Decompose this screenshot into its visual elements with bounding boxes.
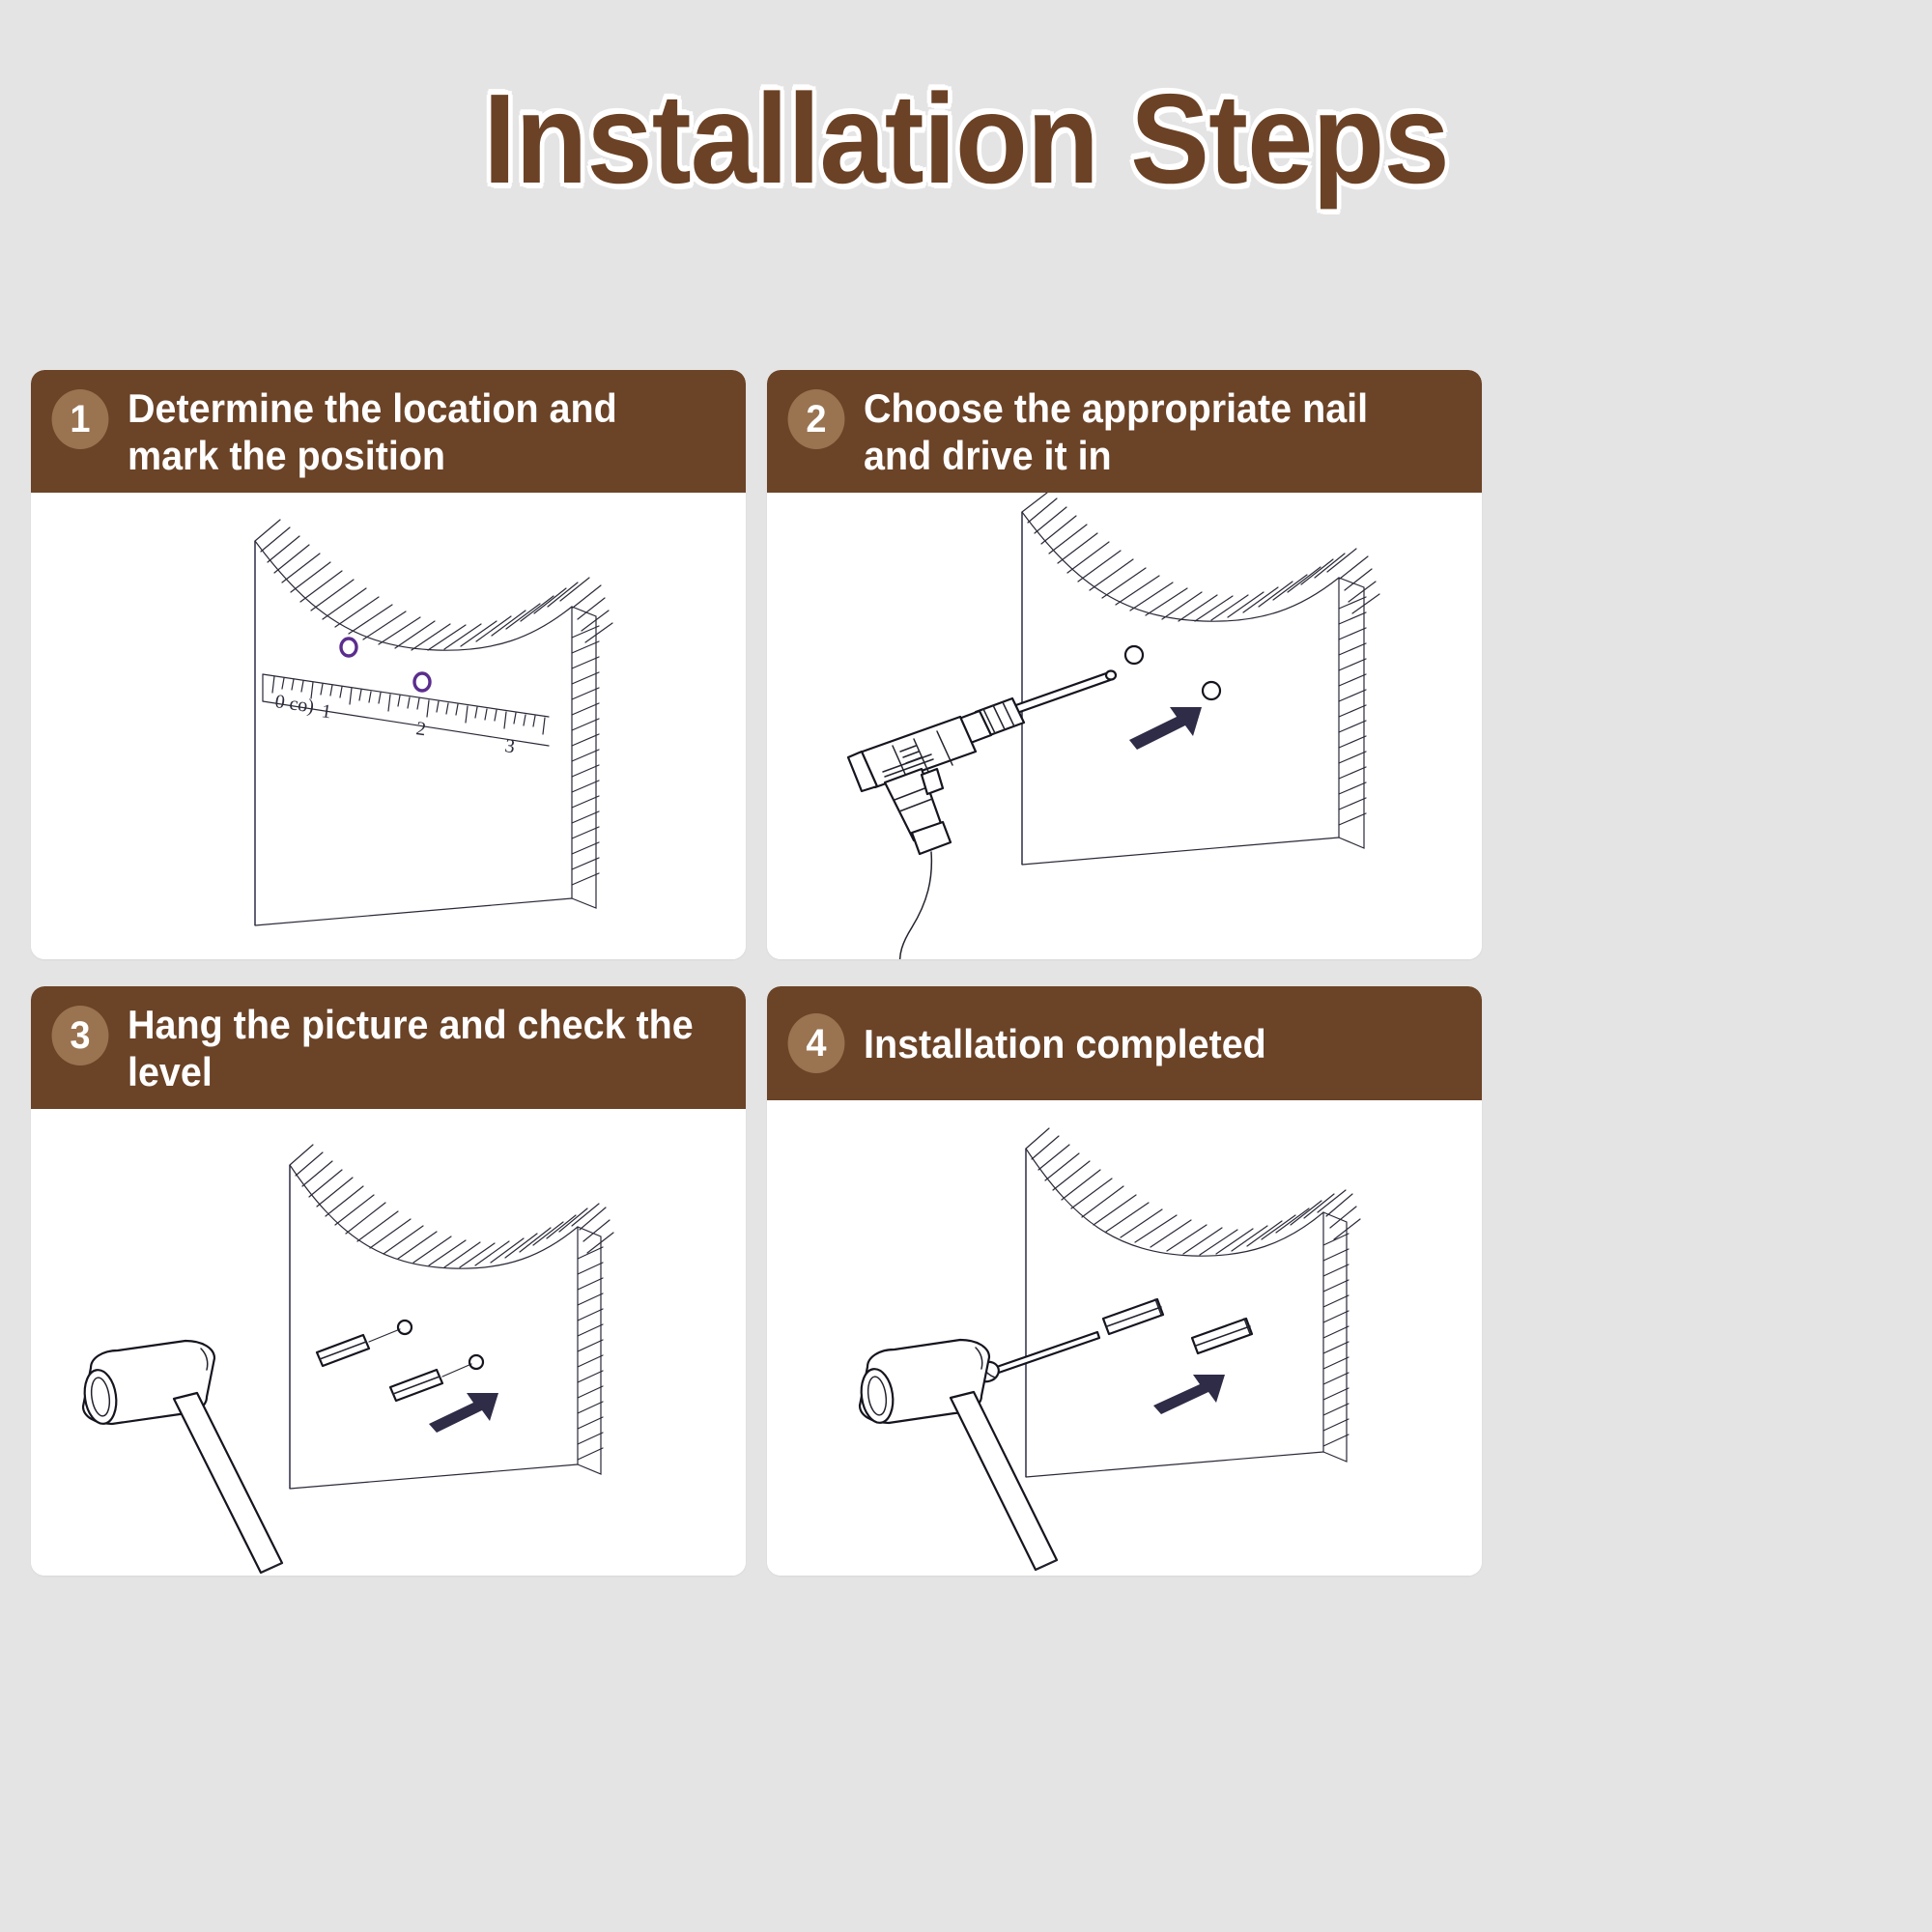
rubber-mallet	[81, 1341, 282, 1573]
steps-grid: 1 Determine the location and mark the po…	[31, 370, 1901, 1901]
step-title-1: Determine the location and mark the posi…	[128, 384, 695, 479]
wall-top-hatching	[290, 1145, 613, 1267]
step-illustration-3	[31, 1109, 746, 1576]
wall-shape	[1026, 1128, 1360, 1477]
step-header-1: 1 Determine the location and mark the po…	[31, 370, 746, 493]
step-illustration-4	[767, 1100, 1482, 1576]
power-cord	[900, 852, 932, 959]
driven-nail	[973, 1332, 1099, 1384]
step-title-3: Hang the picture and check the level	[128, 1000, 695, 1095]
nail-driven-diagram	[767, 1100, 1482, 1576]
rubber-mallet	[858, 1340, 1057, 1570]
step-illustration-2	[767, 493, 1482, 959]
step-title-2: Choose the appropriate nail and drive it…	[864, 384, 1431, 479]
step-panel-3: 3 Hang the picture and check the level	[31, 986, 746, 1576]
step-panel-2: 2 Choose the appropriate nail and drive …	[767, 370, 1482, 959]
step-number-badge-1: 1	[52, 389, 109, 449]
wall-shape	[290, 1145, 613, 1489]
wall-shape	[1022, 493, 1379, 865]
step-illustration-1: 0 co) 1 2 3	[31, 493, 746, 959]
step-number-badge-2: 2	[788, 389, 845, 449]
drill-wall-diagram	[767, 493, 1482, 959]
ruler-label-0: 0 co)	[273, 692, 315, 718]
wall-anchor-1	[317, 1321, 412, 1366]
step-header-3: 3 Hang the picture and check the level	[31, 986, 746, 1109]
ruler-label-3: 3	[503, 736, 516, 758]
nail-shaft	[991, 1332, 1099, 1375]
mallet-anchor-diagram	[31, 1109, 746, 1576]
wall-side-hatching	[1323, 1234, 1349, 1446]
ruler-label-1: 1	[320, 701, 332, 724]
mallet-handle	[174, 1393, 282, 1573]
mallet-handle	[951, 1392, 1057, 1570]
wall-anchor-2	[1192, 1319, 1252, 1353]
ruler: 0 co) 1 2 3	[263, 674, 549, 757]
wall-ruler-diagram: 0 co) 1 2 3	[31, 493, 746, 959]
ruler-label-2: 2	[414, 719, 427, 741]
wall-top-hatching	[1022, 493, 1379, 621]
step-number-badge-4: 4	[788, 1013, 845, 1073]
drill-hole-1	[1125, 646, 1143, 664]
step-panel-1: 1 Determine the location and mark the po…	[31, 370, 746, 959]
direction-arrow	[1153, 1375, 1225, 1414]
wall-side-hatching	[572, 626, 599, 885]
wall-side-hatching	[1339, 597, 1366, 825]
step-number-badge-3: 3	[52, 1006, 109, 1065]
drill-bit	[1010, 672, 1113, 714]
drill-hole-2	[1203, 682, 1220, 699]
step-header-2: 2 Choose the appropriate nail and drive …	[767, 370, 1482, 493]
direction-arrow	[1129, 707, 1202, 750]
page-title: Installation Steps	[68, 75, 1864, 203]
wall-side-hatching	[578, 1247, 603, 1460]
position-mark-2	[414, 673, 430, 691]
position-mark-1	[341, 639, 356, 656]
wall-top-hatching	[255, 520, 612, 650]
wall-anchor-1	[1103, 1299, 1163, 1334]
wall-top-hatching	[1026, 1128, 1360, 1255]
electric-drill	[848, 671, 1116, 959]
step-title-4: Installation completed	[864, 1019, 1266, 1068]
wall-shape	[255, 520, 612, 925]
step-header-4: 4 Installation completed	[767, 986, 1482, 1100]
direction-arrow	[429, 1393, 498, 1433]
step-panel-4: 4 Installation completed	[767, 986, 1482, 1576]
